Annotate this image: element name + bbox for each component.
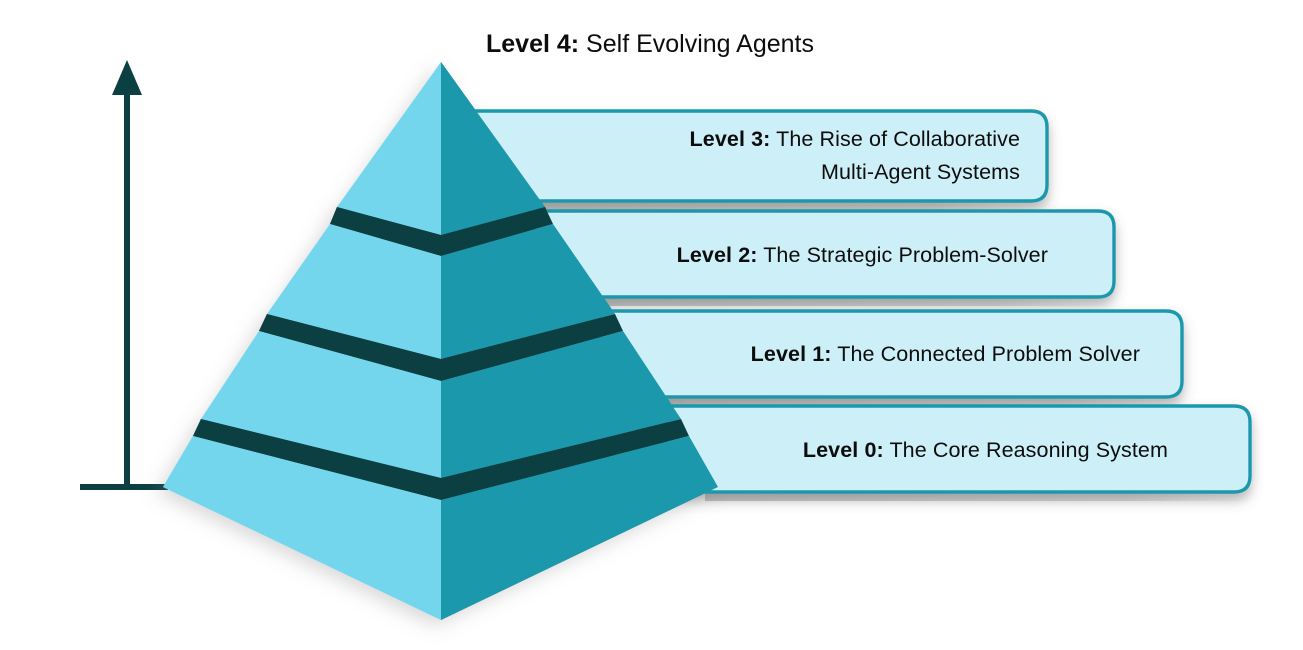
callout-level-3-box[interactable]: [468, 111, 1047, 201]
callout-level-0-rest: The Core Reasoning System: [884, 438, 1168, 462]
pyramid-diagram: Level 3: The Rise of Collaborative Multi…: [0, 0, 1303, 650]
callout-level-2[interactable]: Level 2: The Strategic Problem-Solver: [534, 211, 1114, 297]
callout-level-2-line1: Level 2: The Strategic Problem-Solver: [677, 243, 1048, 267]
callout-level-1[interactable]: Level 1: The Connected Problem Solver: [600, 311, 1182, 397]
apex-title-lead: Level 4:: [486, 30, 579, 58]
callout-level-3-line1: Level 3: The Rise of Collaborative: [690, 127, 1020, 151]
callout-level-2-lead: Level 2:: [677, 243, 758, 267]
apex-title-rest: Self Evolving Agents: [579, 30, 814, 58]
apex-title: Level 4: Self Evolving Agents: [486, 30, 814, 58]
callout-level-1-rest: The Connected Problem Solver: [832, 342, 1140, 366]
callout-level-0[interactable]: Level 0: The Core Reasoning System: [666, 406, 1250, 492]
callout-level-0-line1: Level 0: The Core Reasoning System: [803, 438, 1168, 462]
callout-level-1-lead: Level 1:: [751, 342, 832, 366]
callout-level-3[interactable]: Level 3: The Rise of Collaborative Multi…: [468, 111, 1047, 201]
arrow-head-icon: [112, 60, 142, 95]
callout-level-0-lead: Level 0:: [803, 438, 884, 462]
callout-level-1-line1: Level 1: The Connected Problem Solver: [751, 342, 1140, 366]
callout-level-3-rest: The Rise of Collaborative: [770, 127, 1020, 151]
callout-level-3-line2: Multi-Agent Systems: [821, 160, 1020, 184]
callout-level-3-lead: Level 3:: [690, 127, 771, 151]
diagram-canvas: Level 3: The Rise of Collaborative Multi…: [0, 0, 1303, 650]
callout-level-2-rest: The Strategic Problem-Solver: [758, 243, 1048, 267]
overlay-tier-4-left: [337, 62, 441, 235]
progression-arrow: [80, 60, 168, 487]
